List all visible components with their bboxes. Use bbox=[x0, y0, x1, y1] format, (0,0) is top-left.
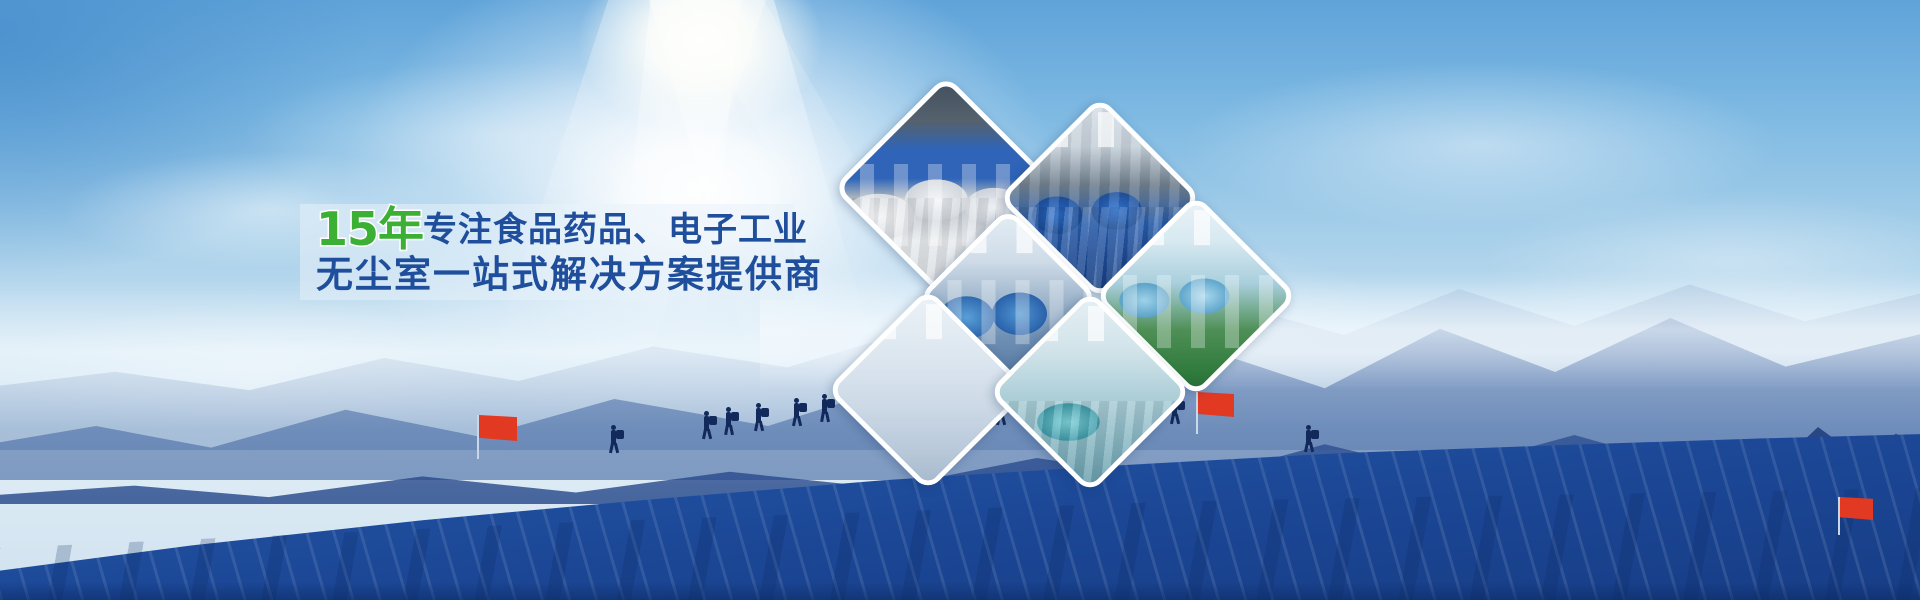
headline: 15年专注食品药品、电子工业 无尘室一站式解决方案提供商 bbox=[316, 206, 786, 302]
red-flag-icon bbox=[477, 415, 519, 459]
headline-line-1: 15年专注食品药品、电子工业 bbox=[316, 206, 786, 254]
climber-silhouette bbox=[700, 411, 714, 435]
red-flag-icon bbox=[1196, 392, 1236, 434]
headline-line-2: 无尘室一站式解决方案提供商 bbox=[316, 256, 786, 302]
cloud bbox=[240, 60, 760, 210]
climber-silhouette bbox=[790, 398, 804, 422]
climber-silhouette bbox=[607, 425, 621, 449]
hero-banner: 15年专注食品药品、电子工业 无尘室一站式解决方案提供商 bbox=[0, 0, 1920, 600]
headline-line-1-rest: 专注食品药品、电子工业 bbox=[423, 210, 808, 250]
climber-silhouette bbox=[1303, 425, 1315, 447]
red-flag-icon bbox=[1838, 497, 1874, 535]
bottom-edge-fade bbox=[0, 582, 1920, 600]
climber-silhouette bbox=[752, 403, 766, 427]
climber-silhouette bbox=[818, 394, 832, 418]
years-badge: 15年 bbox=[316, 202, 423, 256]
climber-silhouette bbox=[722, 407, 736, 431]
